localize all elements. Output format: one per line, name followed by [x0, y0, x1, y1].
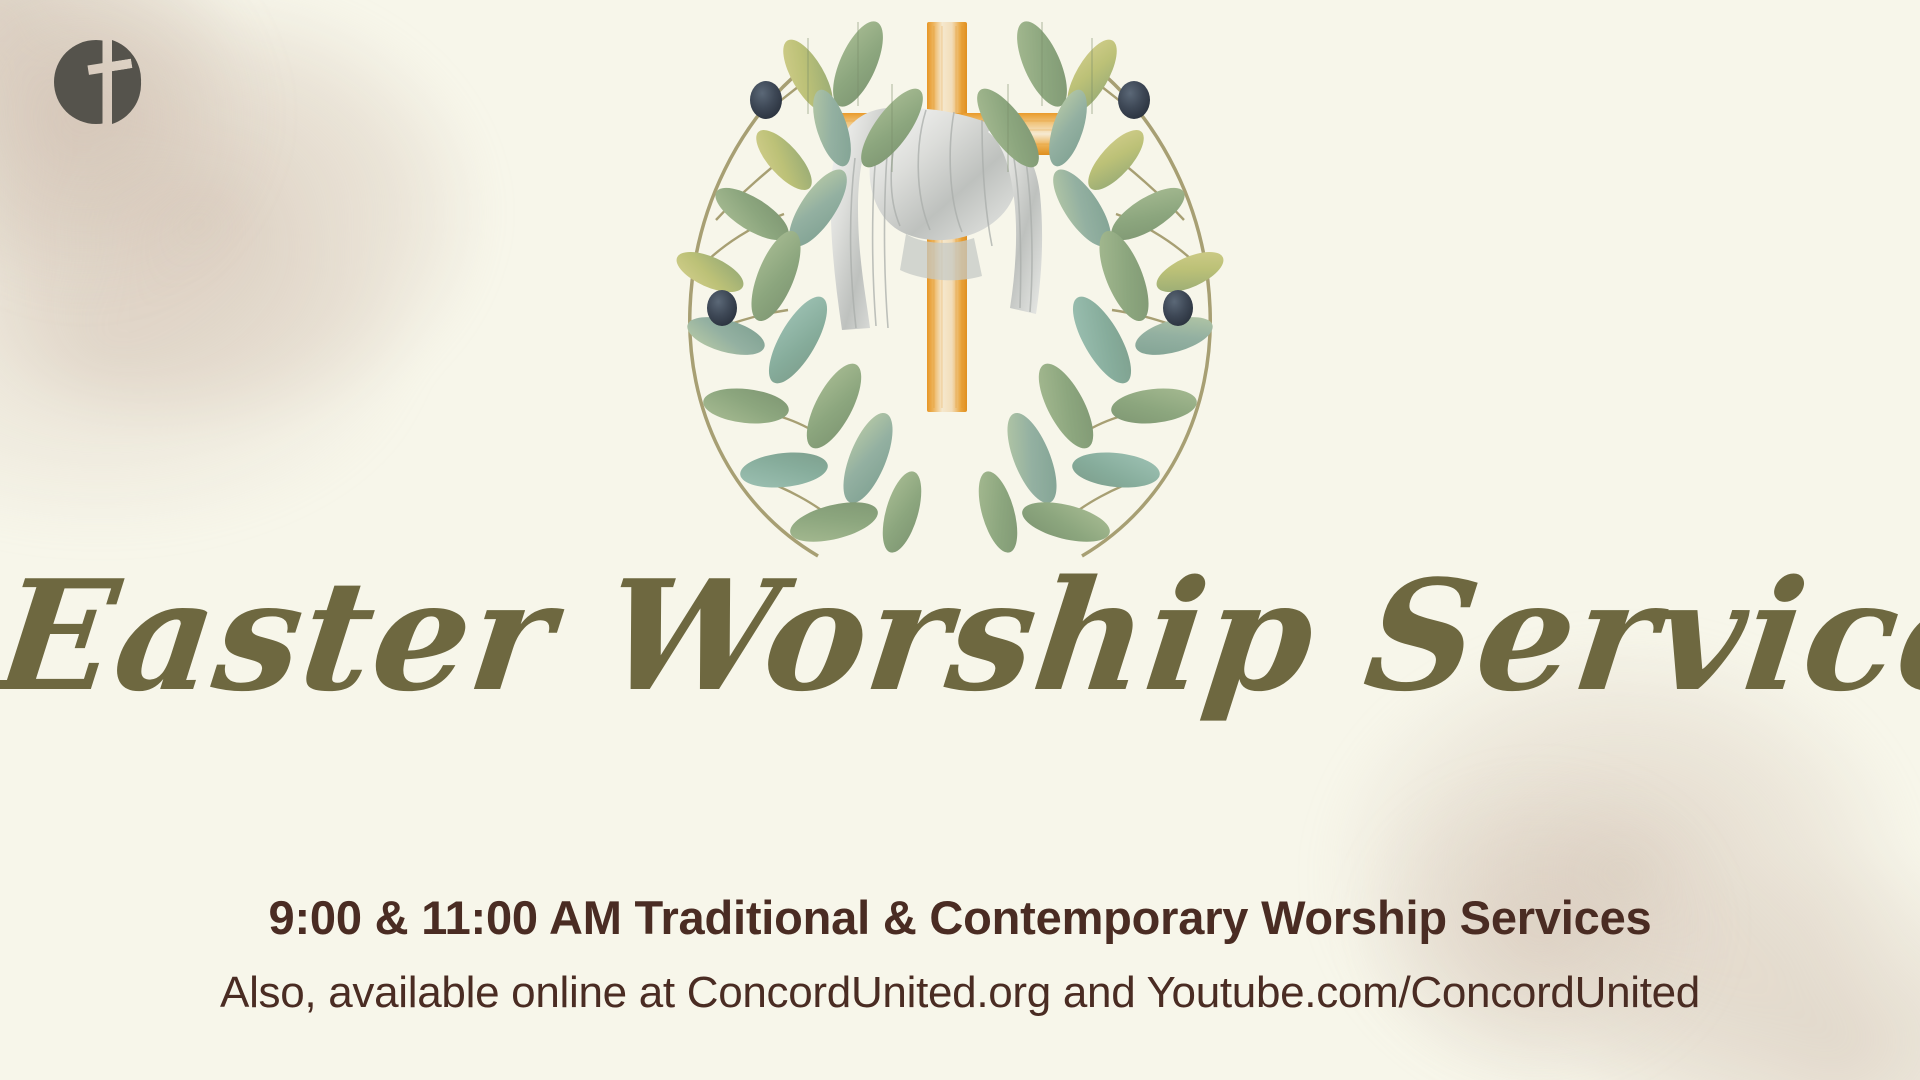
- church-logo[interactable]: [44, 26, 156, 138]
- leaf-cluster-left: [671, 15, 933, 557]
- olive-berry: [1163, 290, 1193, 326]
- easter-service-slide: Easter Worship Services 9:00 & 11:00 AM …: [0, 0, 1920, 1080]
- olive-berry: [1118, 81, 1150, 119]
- olive-branch-left: [671, 15, 933, 557]
- online-availability-text: Also, available online at ConcordUnited.…: [0, 968, 1920, 1018]
- olive-branch-right: [967, 15, 1229, 557]
- circle-cross-logo-icon: [44, 26, 156, 138]
- olive-berry: [750, 81, 782, 119]
- olive-berry: [707, 290, 737, 326]
- hero-artwork: [570, 8, 1350, 568]
- leaf-cluster-right: [967, 15, 1229, 557]
- page-title: Easter Worship Services: [0, 560, 1920, 712]
- service-times-text: 9:00 & 11:00 AM Traditional & Contempora…: [0, 890, 1920, 945]
- cross-and-wreath-illustration: [570, 8, 1350, 568]
